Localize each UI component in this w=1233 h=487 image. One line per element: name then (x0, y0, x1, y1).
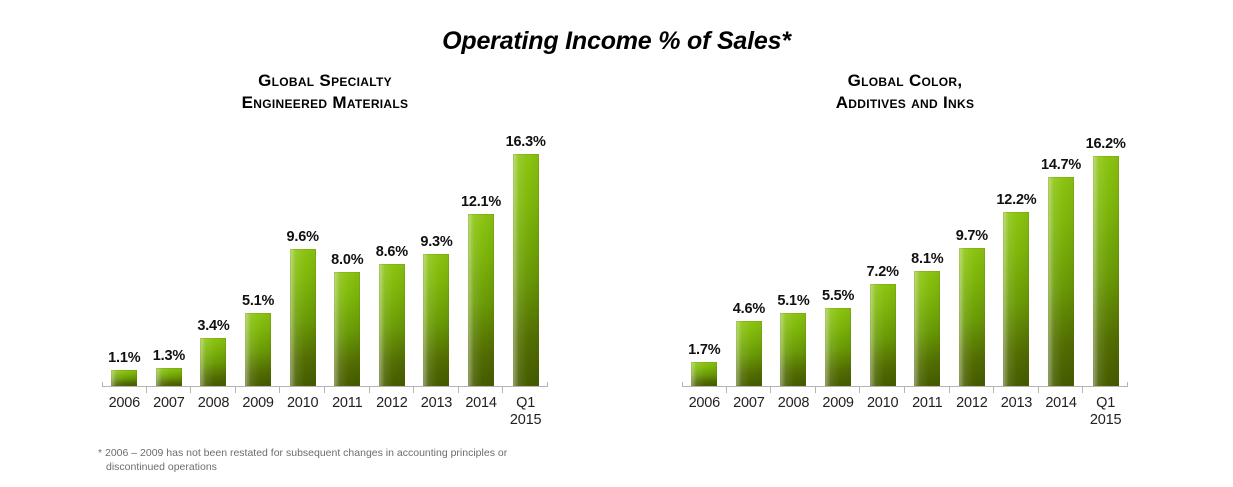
bar[interactable] (1003, 212, 1029, 386)
x-axis-label: 2011 (325, 395, 370, 429)
x-axis-label-line-1: 2010 (867, 395, 898, 411)
x-axis-label-line-1: 2010 (287, 395, 318, 411)
x-axis-line-specialty (102, 386, 548, 387)
x-axis-labels-specialty: 200620072008200920102011201220132014Q120… (102, 395, 548, 429)
x-axis-tick (459, 387, 504, 393)
x-axis-tick (191, 387, 236, 393)
bar[interactable] (379, 264, 405, 386)
x-axis-label-line-1: 2011 (912, 395, 942, 411)
bar-value-label: 3.4% (197, 319, 229, 333)
bar-value-label: 12.1% (461, 195, 501, 209)
x-axis-label-line-1: 2008 (198, 395, 229, 411)
chart-title-specialty-engineered-materials: Global Specialty Engineered Materials (80, 70, 570, 114)
x-axis-label: 2013 (994, 395, 1039, 429)
x-axis-label: 2010 (280, 395, 325, 429)
x-axis-label-line-2: 2015 (503, 412, 548, 429)
x-axis-label-line-1: 2014 (465, 395, 496, 411)
chart-panel-specialty-engineered-materials: Global Specialty Engineered Materials 1.… (80, 70, 570, 440)
bar-value-label: 5.5% (822, 289, 854, 303)
x-axis-label: 2014 (459, 395, 504, 429)
x-axis-label: 2009 (816, 395, 861, 429)
bar-slot: 5.1% (771, 116, 816, 386)
x-axis-label-line-2: 2015 (1083, 412, 1128, 429)
bar[interactable] (468, 214, 494, 386)
bar[interactable] (200, 338, 226, 386)
x-axis-tick (370, 387, 415, 393)
x-axis-tick (325, 387, 370, 393)
bar-slot: 16.2% (1083, 116, 1128, 386)
footnote-line-2: discontinued operations (98, 460, 618, 474)
bar-value-label: 8.1% (911, 252, 943, 266)
bar-slot: 7.2% (860, 116, 905, 386)
chart-title-line-2: Engineered Materials (80, 92, 570, 114)
bar-value-label: 5.1% (777, 294, 809, 308)
x-axis-tick (503, 387, 548, 393)
bar[interactable] (423, 254, 449, 386)
x-axis-label: 2011 (905, 395, 950, 429)
x-axis-label-line-1: Q1 (516, 395, 535, 411)
x-axis-tick (1039, 387, 1084, 393)
bar-slot: 1.1% (102, 116, 147, 386)
bar[interactable] (1093, 156, 1119, 387)
x-axis-label-line-1: 2009 (822, 395, 853, 411)
x-axis-label: 2014 (1039, 395, 1084, 429)
bar[interactable] (290, 249, 316, 386)
bar[interactable] (334, 272, 360, 386)
chart-title-color-additives-inks: Global Color, Additives and Inks (660, 70, 1150, 114)
bar[interactable] (691, 362, 717, 386)
x-axis-label: 2012 (950, 395, 995, 429)
footnote: * 2006 – 2009 has not been restated for … (98, 446, 618, 474)
bar[interactable] (870, 284, 896, 386)
x-axis-label-line-1: 2014 (1045, 395, 1076, 411)
plot-area-specialty: 1.1%1.3%3.4%5.1%9.6%8.0%8.6%9.3%12.1%16.… (102, 116, 548, 386)
bar-slot: 4.6% (727, 116, 772, 386)
bar-value-label: 8.6% (376, 245, 408, 259)
x-axis-label-line-1: 2008 (778, 395, 809, 411)
page-title: Operating Income % of Sales* (0, 27, 1233, 56)
bar-value-label: 9.3% (420, 235, 452, 249)
bar-value-label: 1.1% (108, 351, 140, 365)
bar-value-label: 9.7% (956, 229, 988, 243)
x-axis-label-line-1: 2006 (109, 395, 140, 411)
bar-slot: 8.6% (370, 116, 415, 386)
x-axis-label: 2010 (860, 395, 905, 429)
chart-title-line-1: Global Color, (660, 70, 1150, 92)
bar-value-label: 9.6% (287, 230, 319, 244)
bar-value-label: 16.2% (1086, 137, 1126, 151)
bar-slot: 5.1% (236, 116, 281, 386)
x-axis-labels-color-additives: 200620072008200920102011201220132014Q120… (682, 395, 1128, 429)
bar-value-label: 16.3% (506, 135, 546, 149)
x-axis-label-line-1: 2006 (689, 395, 720, 411)
bar-value-label: 8.0% (331, 253, 363, 267)
bar-slot: 1.3% (147, 116, 192, 386)
x-axis-label-line-1: Q1 (1096, 395, 1115, 411)
chart-title-line-1: Global Specialty (80, 70, 570, 92)
bar-value-label: 14.7% (1041, 158, 1081, 172)
x-axis-tick (816, 387, 861, 393)
bar-series-specialty: 1.1%1.3%3.4%5.1%9.6%8.0%8.6%9.3%12.1%16.… (102, 116, 548, 386)
x-axis-ticks-specialty (102, 387, 548, 393)
x-axis-tick (727, 387, 772, 393)
x-axis-label: 2006 (682, 395, 727, 429)
x-axis-label: 2009 (236, 395, 281, 429)
x-axis-label: 2007 (147, 395, 192, 429)
chart-panel-color-additives-inks: Global Color, Additives and Inks 1.7%4.6… (660, 70, 1150, 440)
bar-slot: 16.3% (503, 116, 548, 386)
bar[interactable] (736, 321, 762, 386)
bar[interactable] (1048, 177, 1074, 386)
x-axis-tick (682, 387, 727, 393)
chart-title-line-2: Additives and Inks (660, 92, 1150, 114)
x-axis-label: Q12015 (503, 395, 548, 429)
bar-slot: 9.6% (280, 116, 325, 386)
x-axis-tick (905, 387, 950, 393)
bar[interactable] (513, 154, 539, 386)
bar-slot: 14.7% (1039, 116, 1084, 386)
x-axis-label-line-1: 2013 (1001, 395, 1032, 411)
x-axis-tick (950, 387, 995, 393)
x-axis-ticks-color-additives (682, 387, 1128, 393)
x-axis-label-line-1: 2012 (956, 395, 987, 411)
bar-slot: 8.0% (325, 116, 370, 386)
bar-slot: 12.1% (459, 116, 504, 386)
bar-slot: 5.5% (816, 116, 861, 386)
x-axis-label: 2008 (191, 395, 236, 429)
x-axis-tick (414, 387, 459, 393)
bar-slot: 9.3% (414, 116, 459, 386)
x-axis-label-line-1: 2007 (153, 395, 184, 411)
x-axis-label: 2012 (370, 395, 415, 429)
bar[interactable] (245, 313, 271, 386)
x-axis-label: 2006 (102, 395, 147, 429)
x-axis-label-line-1: 2009 (242, 395, 273, 411)
x-axis-label: Q12015 (1083, 395, 1128, 429)
bar-slot: 1.7% (682, 116, 727, 386)
x-axis-label-line-1: 2007 (733, 395, 764, 411)
x-axis-label: 2007 (727, 395, 772, 429)
x-axis-label-line-1: 2013 (421, 395, 452, 411)
slide-canvas: Operating Income % of Sales* Global Spec… (0, 0, 1233, 487)
bar-value-label: 7.2% (867, 265, 899, 279)
bar-value-label: 1.3% (153, 349, 185, 363)
bar-value-label: 12.2% (996, 193, 1036, 207)
bar-slot: 8.1% (905, 116, 950, 386)
bar-value-label: 4.6% (733, 302, 765, 316)
x-axis-tick (280, 387, 325, 393)
bar-slot: 3.4% (191, 116, 236, 386)
footnote-line-1: * 2006 – 2009 has not been restated for … (98, 447, 507, 459)
x-axis-line-color-additives (682, 386, 1128, 387)
bar[interactable] (959, 248, 985, 386)
x-axis-tick (771, 387, 816, 393)
x-axis-label-line-1: 2011 (332, 395, 362, 411)
bar-slot: 9.7% (950, 116, 995, 386)
x-axis-tick (236, 387, 281, 393)
bar[interactable] (914, 271, 940, 386)
x-axis-tick (1083, 387, 1128, 393)
bar-series-color-additives: 1.7%4.6%5.1%5.5%7.2%8.1%9.7%12.2%14.7%16… (682, 116, 1128, 386)
bar[interactable] (825, 308, 851, 386)
bar-value-label: 5.1% (242, 294, 274, 308)
bar[interactable] (111, 370, 137, 386)
x-axis-tick (860, 387, 905, 393)
x-axis-label: 2013 (414, 395, 459, 429)
bar-value-label: 1.7% (688, 343, 720, 357)
x-axis-tick (147, 387, 192, 393)
bar-slot: 12.2% (994, 116, 1039, 386)
bar[interactable] (156, 368, 182, 386)
x-axis-tick (102, 387, 147, 393)
x-axis-label-line-1: 2012 (376, 395, 407, 411)
x-axis-tick (994, 387, 1039, 393)
x-axis-label: 2008 (771, 395, 816, 429)
bar[interactable] (780, 313, 806, 386)
plot-area-color-additives: 1.7%4.6%5.1%5.5%7.2%8.1%9.7%12.2%14.7%16… (682, 116, 1128, 386)
